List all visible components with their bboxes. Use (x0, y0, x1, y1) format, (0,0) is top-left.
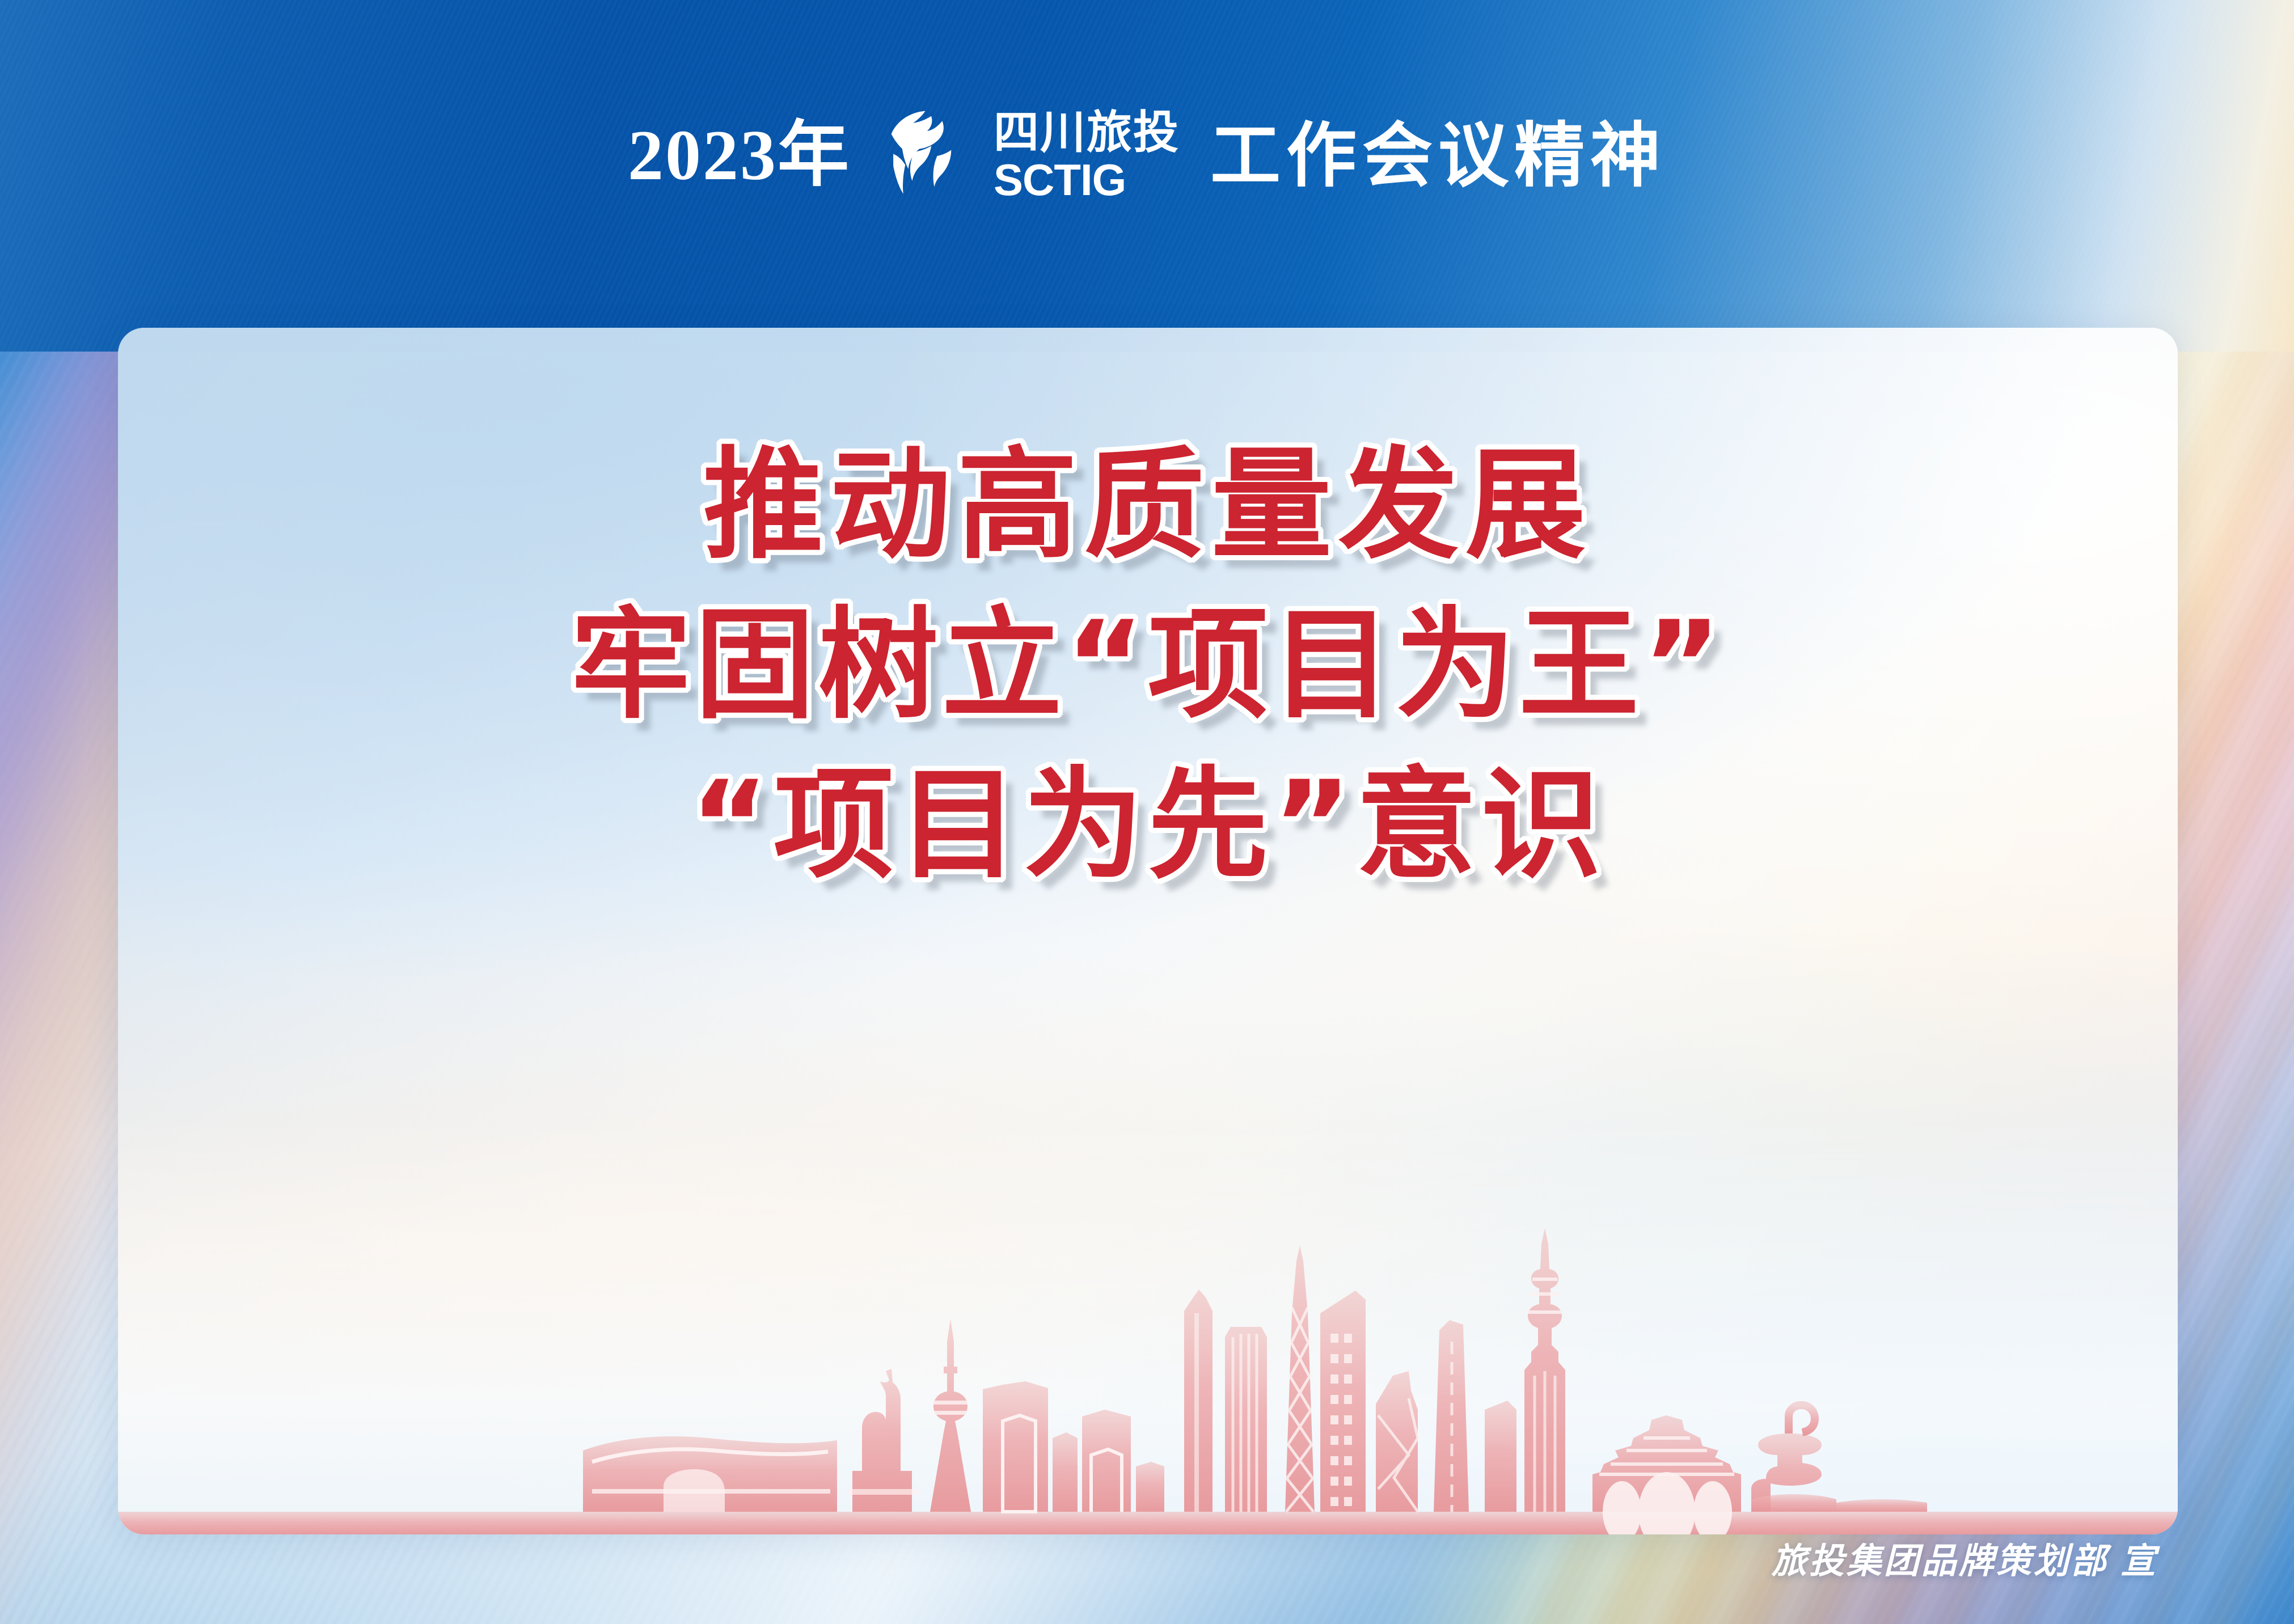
header-row: 2023年 四川旅投 SCTIG 工作会议精神 (0, 85, 2294, 227)
brand-logo-wordmark: 四川旅投 SCTIG (994, 110, 1180, 202)
card-bottom-haze (118, 1115, 2178, 1534)
header-year: 2023年 (628, 120, 851, 192)
brand-name-en: SCTIG (994, 158, 1126, 202)
footer-credit: 旅投集团品牌策划部 宣 (1772, 1532, 2158, 1583)
header-title: 工作会议精神 (1210, 121, 1666, 191)
brand-logo: 四川旅投 SCTIG (881, 106, 1180, 206)
content-card (118, 328, 2178, 1534)
brand-name-cn: 四川旅投 (994, 110, 1180, 155)
poster-root: 2023年 四川旅投 SCTIG 工作会议精神 (0, 0, 2294, 1624)
globe-logo-icon (881, 106, 981, 206)
